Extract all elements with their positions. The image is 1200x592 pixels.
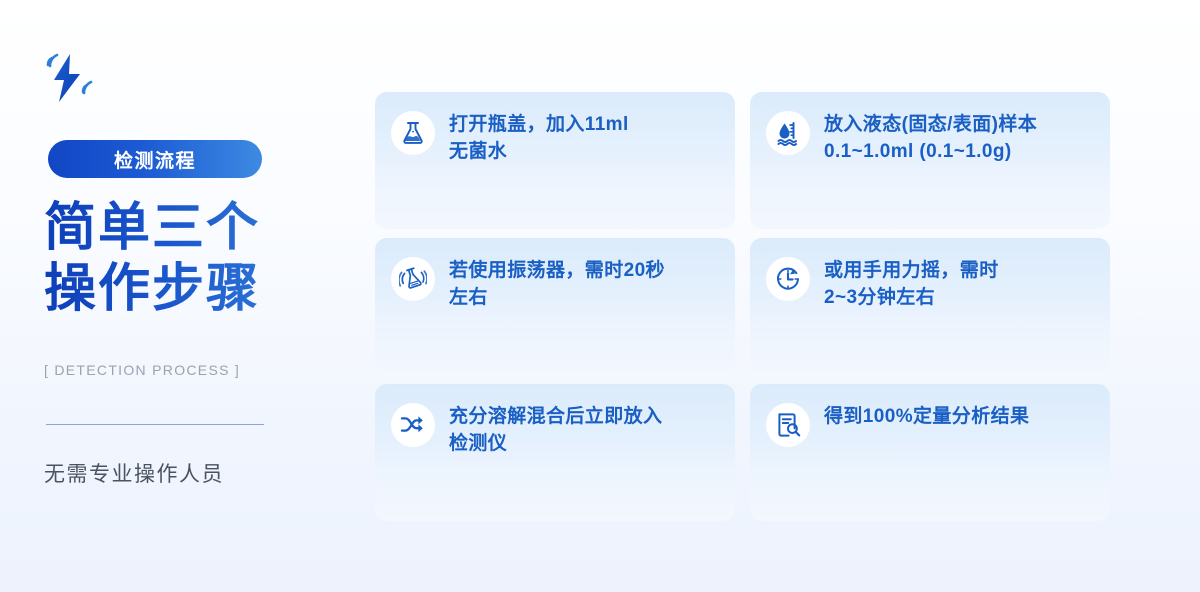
step-card: 得到100%定量分析结果	[750, 384, 1110, 521]
step-card: 放入液态(固态/表面)样本 0.1~1.0ml (0.1~1.0g)	[750, 92, 1110, 229]
step-card: 打开瓶盖，加入11ml 无菌水	[375, 92, 735, 229]
step-text-line-1: 若使用振荡器，需时20秒	[449, 258, 665, 285]
step-card-text: 或用手用力摇，需时 2~3分钟左右	[824, 256, 999, 312]
step-card: 若使用振荡器，需时20秒 左右	[375, 238, 735, 375]
divider	[46, 424, 264, 425]
subtitle-english: [ DETECTION PROCESS ]	[44, 362, 240, 378]
step-card-text: 放入液态(固态/表面)样本 0.1~1.0ml (0.1~1.0g)	[824, 110, 1037, 166]
step-text-line-2: 2~3分钟左右	[824, 285, 999, 312]
shaking-flask-icon	[391, 257, 435, 301]
water-drop-scale-icon	[766, 111, 810, 155]
step-text-line-2: 0.1~1.0ml (0.1~1.0g)	[824, 139, 1037, 166]
step-text-line-2: 左右	[449, 285, 665, 312]
conical-flask-icon	[391, 111, 435, 155]
left-panel: 检测流程 简单三个 操作步骤 [ DETECTION PROCESS ] 无需专…	[0, 0, 375, 592]
step-card-text: 打开瓶盖，加入11ml 无菌水	[449, 110, 629, 166]
footnote-text: 无需专业操作人员	[44, 458, 224, 488]
step-card-text: 若使用振荡器，需时20秒 左右	[449, 256, 665, 312]
document-search-icon	[766, 403, 810, 447]
step-text-line-1: 得到100%定量分析结果	[824, 404, 1029, 431]
step-card-text: 充分溶解混合后立即放入 检测仪	[449, 402, 662, 458]
step-text-line-1: 充分溶解混合后立即放入	[449, 404, 662, 431]
page-title-line-1: 简单三个	[44, 198, 344, 259]
step-card: 或用手用力摇，需时 2~3分钟左右	[750, 238, 1110, 375]
lightning-signal-icon	[40, 52, 102, 104]
step-text-line-1: 打开瓶盖，加入11ml	[449, 112, 629, 139]
clock-refresh-icon	[766, 257, 810, 301]
section-badge: 检测流程	[48, 140, 262, 178]
step-card-text: 得到100%定量分析结果	[824, 402, 1029, 431]
step-text-line-2: 无菌水	[449, 139, 629, 166]
page-title-line-2: 操作步骤	[44, 259, 344, 320]
step-text-line-1: 放入液态(固态/表面)样本	[824, 112, 1037, 139]
shuffle-arrows-icon	[391, 403, 435, 447]
step-text-line-1: 或用手用力摇，需时	[824, 258, 999, 285]
step-text-line-2: 检测仪	[449, 431, 662, 458]
section-badge-label: 检测流程	[114, 146, 196, 173]
step-card: 充分溶解混合后立即放入 检测仪	[375, 384, 735, 521]
steps-grid: 打开瓶盖，加入11ml 无菌水 放入液态(固态/表面)样本 0.1~1.0ml …	[375, 92, 1110, 522]
page-title: 简单三个 操作步骤	[44, 198, 344, 321]
